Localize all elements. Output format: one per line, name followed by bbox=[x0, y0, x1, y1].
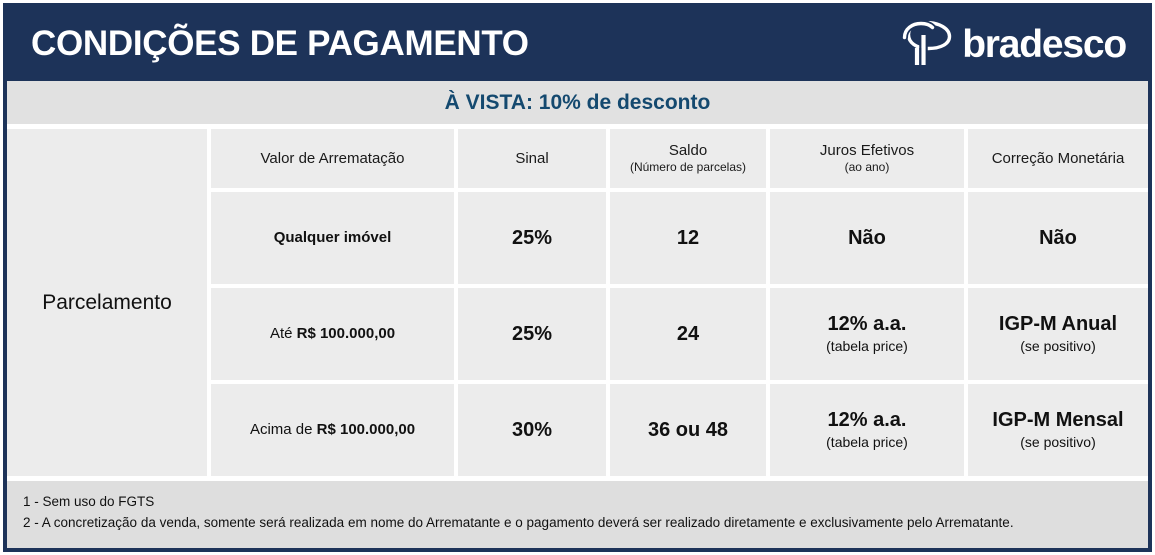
cell-valor: Até R$ 100.000,00 bbox=[211, 284, 458, 380]
cell-saldo-text: 12 bbox=[677, 226, 699, 250]
cell-juros: 12% a.a. (tabela price) bbox=[770, 380, 968, 476]
column-header-main: Juros Efetivos bbox=[820, 142, 914, 159]
column-header-main: Saldo bbox=[669, 142, 707, 159]
cell-correcao-note: (se positivo) bbox=[1020, 338, 1095, 356]
card-header: CONDIÇÕES DE PAGAMENTO bradesco bbox=[7, 7, 1148, 81]
column-header-main: Correção Monetária bbox=[992, 150, 1125, 167]
cell-sinal: 30% bbox=[458, 380, 610, 476]
column-header-main: Sinal bbox=[515, 150, 548, 167]
column-header-saldo: Saldo (Número de parcelas) bbox=[610, 129, 770, 188]
footnote-2: 2 - A concretização da venda, somente se… bbox=[23, 513, 1148, 534]
brand-name: bradesco bbox=[962, 25, 1126, 64]
cell-sinal-text: 25% bbox=[512, 322, 552, 346]
cell-juros-text: 12% a.a. bbox=[828, 408, 907, 432]
cell-sinal-text: 25% bbox=[512, 226, 552, 250]
cell-correcao-text: IGP-M Mensal bbox=[992, 408, 1123, 432]
cell-correcao: IGP-M Anual (se positivo) bbox=[968, 284, 1148, 380]
cell-valor: Acima de R$ 100.000,00 bbox=[211, 380, 458, 476]
cell-juros-note: (tabela price) bbox=[826, 434, 908, 452]
cell-valor-text: Acima de R$ 100.000,00 bbox=[250, 421, 415, 439]
cell-saldo-text: 36 ou 48 bbox=[648, 418, 728, 442]
row-group-label: Parcelamento bbox=[42, 291, 172, 315]
discount-text: À VISTA: 10% de desconto bbox=[445, 91, 711, 115]
column-header-sub: (ao ano) bbox=[845, 160, 890, 174]
footnote-1: 1 - Sem uso do FGTS bbox=[23, 492, 1148, 513]
column-header-juros: Juros Efetivos (ao ano) bbox=[770, 129, 968, 188]
cell-juros-text: Não bbox=[848, 226, 886, 250]
cell-sinal: 25% bbox=[458, 188, 610, 284]
cell-correcao: IGP-M Mensal (se positivo) bbox=[968, 380, 1148, 476]
cell-juros: 12% a.a. (tabela price) bbox=[770, 284, 968, 380]
row-group-label-cell: Parcelamento bbox=[7, 129, 211, 476]
column-header-correcao: Correção Monetária bbox=[968, 129, 1148, 188]
discount-banner: À VISTA: 10% de desconto bbox=[7, 81, 1148, 129]
page-title: CONDIÇÕES DE PAGAMENTO bbox=[31, 24, 529, 64]
column-header-sinal: Sinal bbox=[458, 129, 610, 188]
cell-saldo: 36 ou 48 bbox=[610, 380, 770, 476]
cell-valor-text: Qualquer imóvel bbox=[274, 229, 392, 247]
column-header-main: Valor de Arrematação bbox=[261, 150, 405, 167]
footnotes: 1 - Sem uso do FGTS 2 - A concretização … bbox=[7, 476, 1148, 548]
table-row: Até R$ 100.000,00 25% 24 12% a.a. (tabel… bbox=[211, 284, 1148, 380]
cell-saldo-text: 24 bbox=[677, 322, 699, 346]
payment-conditions-card: CONDIÇÕES DE PAGAMENTO bradesco À VISTA:… bbox=[3, 3, 1152, 552]
cell-sinal-text: 30% bbox=[512, 418, 552, 442]
cell-saldo: 12 bbox=[610, 188, 770, 284]
table-header-row: Valor de Arrematação Sinal Saldo (Número… bbox=[211, 129, 1148, 188]
column-header-sub: (Número de parcelas) bbox=[630, 160, 746, 174]
cell-juros-note: (tabela price) bbox=[826, 338, 908, 356]
bradesco-logo: bradesco bbox=[899, 21, 1126, 67]
bradesco-tree-icon bbox=[899, 21, 953, 67]
table-row: Qualquer imóvel 25% 12 Não Não bbox=[211, 188, 1148, 284]
cell-correcao-text: Não bbox=[1039, 226, 1077, 250]
table-row: Acima de R$ 100.000,00 30% 36 ou 48 12% … bbox=[211, 380, 1148, 476]
cell-correcao-text: IGP-M Anual bbox=[999, 312, 1117, 336]
cell-sinal: 25% bbox=[458, 284, 610, 380]
cell-correcao-note: (se positivo) bbox=[1020, 434, 1095, 452]
cell-valor-text: Até R$ 100.000,00 bbox=[270, 325, 395, 343]
table-grid: Valor de Arrematação Sinal Saldo (Número… bbox=[211, 129, 1148, 476]
cell-saldo: 24 bbox=[610, 284, 770, 380]
cell-juros: Não bbox=[770, 188, 968, 284]
column-header-valor: Valor de Arrematação bbox=[211, 129, 458, 188]
cell-juros-text: 12% a.a. bbox=[828, 312, 907, 336]
cell-valor: Qualquer imóvel bbox=[211, 188, 458, 284]
cell-correcao: Não bbox=[968, 188, 1148, 284]
conditions-table: Parcelamento Valor de Arrematação Sinal … bbox=[7, 129, 1148, 476]
